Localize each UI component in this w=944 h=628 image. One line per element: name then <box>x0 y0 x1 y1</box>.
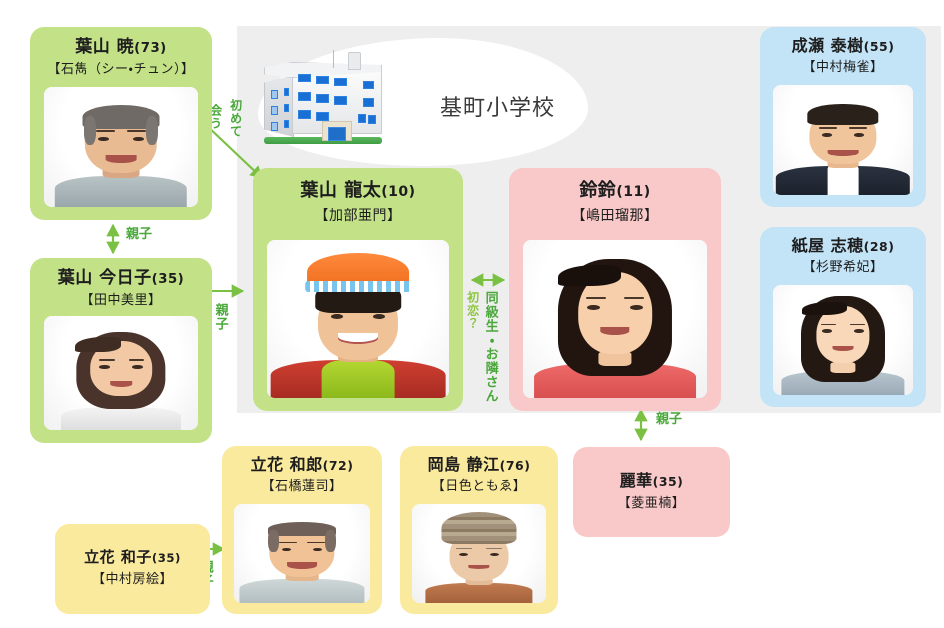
person-name: 立花 和子(35) <box>55 549 210 566</box>
person-age: (35) <box>653 474 684 489</box>
person-actor: 【石橋蓮司】 <box>222 479 382 495</box>
connector-label-doukyuusei: 同級生・お隣さん <box>483 291 497 403</box>
relationship-chart: 基町小学校 初めて 会う 親子 親子 <box>0 0 944 628</box>
person-card-okajima-shizue[interactable]: 岡島 静江(76) 【日色ともゑ】 <box>400 446 558 614</box>
person-name: 鈴鈴(11) <box>509 181 721 201</box>
person-actor: 【杉野希妃】 <box>760 260 926 276</box>
person-name: 立花 和郎(72) <box>222 456 382 474</box>
person-age: (55) <box>864 39 895 54</box>
person-actor: 【田中美里】 <box>30 293 212 309</box>
person-name: 紙屋 志穂(28) <box>760 237 926 255</box>
person-age: (76) <box>500 458 531 473</box>
person-card-reika[interactable]: 麗華(35) 【菱亜楠】 <box>573 447 730 537</box>
person-age: (11) <box>616 184 650 200</box>
person-actor: 【嶋田瑠那】 <box>509 208 721 225</box>
person-actor: 【中村梅雀】 <box>760 60 926 76</box>
connector-label-oyako-akira-kyoko: 親子 <box>126 228 152 242</box>
person-actor: 【中村房絵】 <box>55 572 210 588</box>
person-age: (28) <box>864 239 895 254</box>
connector-akira-kyoko <box>105 219 121 259</box>
person-photo <box>234 504 370 603</box>
person-age: (72) <box>323 458 354 473</box>
school-building-icon <box>262 48 386 144</box>
person-card-naruse-taiki[interactable]: 成瀬 泰樹(55) 【中村梅雀】 <box>760 27 926 207</box>
person-actor: 【日色ともゑ】 <box>400 479 558 495</box>
person-card-kamiya-shiho[interactable]: 紙屋 志穂(28) 【杉野希妃】 <box>760 227 926 407</box>
person-photo <box>523 240 707 398</box>
person-name: 葉山 今日子(35) <box>30 269 212 288</box>
person-actor: 【菱亜楠】 <box>573 496 730 512</box>
connector-label-hatsukoi: 初恋？ <box>466 291 479 330</box>
person-age: (35) <box>152 272 185 287</box>
person-photo <box>773 285 913 395</box>
person-photo <box>267 240 449 398</box>
connector-ryuta-rinrin <box>466 272 510 288</box>
person-photo <box>44 316 198 430</box>
person-card-rinrin[interactable]: 鈴鈴(11) 【嶋田瑠那】 <box>509 168 721 411</box>
person-actor: 【石雋（シー・チュン）】 <box>30 62 212 78</box>
person-photo <box>773 85 913 195</box>
person-age: (35) <box>152 551 181 565</box>
person-card-hayama-ryuta[interactable]: 葉山 龍太(10) 【加部亜門】 <box>253 168 463 411</box>
person-name: 成瀬 泰樹(55) <box>760 37 926 55</box>
person-age: (10) <box>381 184 415 200</box>
connector-label-oyako-rinrin-reika: 親子 <box>656 413 682 427</box>
connector-label-hajimete: 初めて <box>229 99 242 138</box>
person-actor: 【加部亜門】 <box>253 208 463 225</box>
connector-label-oyako-kyoko-ryuta: 親子 <box>213 303 227 331</box>
person-card-hayama-kyoko[interactable]: 葉山 今日子(35) 【田中美里】 <box>30 258 212 443</box>
person-photo <box>412 504 546 603</box>
person-card-tachibana-kazuro[interactable]: 立花 和郎(72) 【石橋蓮司】 <box>222 446 382 614</box>
person-card-hayama-akira[interactable]: 葉山 暁(73) 【石雋（シー・チュン）】 <box>30 27 212 220</box>
person-name: 葉山 暁(73) <box>30 38 212 57</box>
person-card-tachibana-kazuko[interactable]: 立花 和子(35) 【中村房絵】 <box>55 524 210 614</box>
school-name-label: 基町小学校 <box>440 90 555 122</box>
person-name: 岡島 静江(76) <box>400 456 558 474</box>
person-age: (73) <box>134 41 167 56</box>
person-name: 葉山 龍太(10) <box>253 181 463 201</box>
person-photo <box>44 87 198 207</box>
person-name: 麗華(35) <box>573 472 730 490</box>
